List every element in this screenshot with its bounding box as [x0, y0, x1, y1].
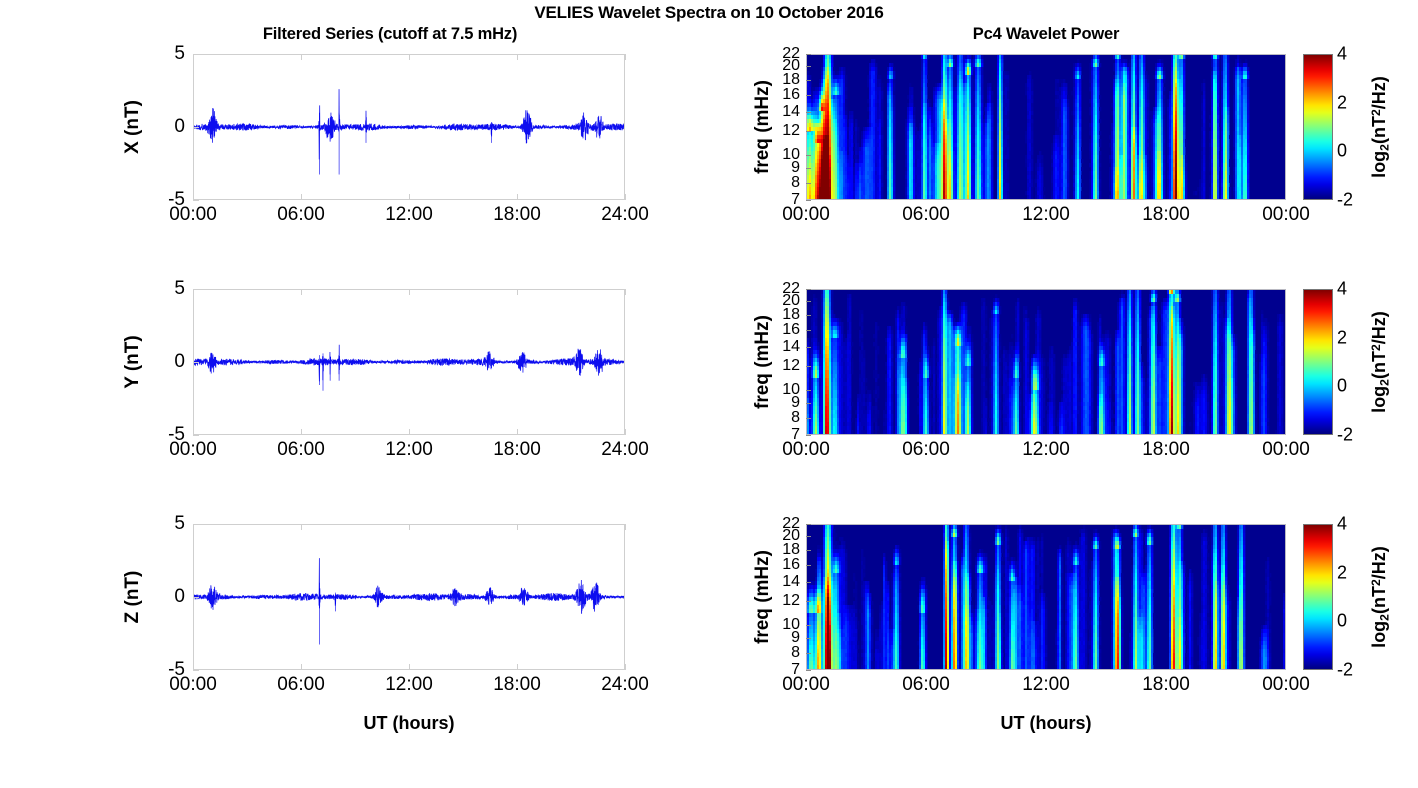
spectrogram-image-z	[807, 525, 1285, 669]
freq-tickmark	[806, 418, 811, 419]
x-tickmark	[409, 524, 410, 530]
xtick-label: 12:00	[1022, 674, 1070, 696]
colorbar-label: log2(nT2/Hz)	[1364, 512, 1388, 682]
freq-tickmark	[806, 54, 811, 55]
colorbar-tick-label: -2	[1337, 660, 1353, 681]
freq-tickmark	[806, 66, 811, 67]
colorbar-x	[1303, 54, 1333, 200]
freq-tickmark	[806, 670, 811, 671]
spectrogram-image-x	[807, 55, 1285, 199]
spectrogram-axes-z	[806, 524, 1286, 670]
xtick-label: 06:00	[902, 204, 950, 226]
freq-tickmark	[806, 550, 811, 551]
y-tickmark	[193, 200, 199, 201]
spectrogram-image-y	[807, 290, 1285, 434]
xtick-label: 24:00	[601, 204, 649, 226]
colorbar-tick-label: -2	[1337, 190, 1353, 211]
freq-tickmark	[806, 168, 811, 169]
x-tickmark	[517, 194, 518, 200]
xtick-label: 06:00	[902, 439, 950, 461]
x-tickmark	[517, 54, 518, 60]
xtick-label: 00:00	[1262, 439, 1310, 461]
ytick-label: 0	[145, 586, 185, 608]
timeseries-trace	[194, 558, 624, 614]
ytick-label: 5	[145, 513, 185, 535]
freq-tickmark	[806, 131, 811, 132]
xtick-label: 06:00	[902, 674, 950, 696]
y-tickmark	[193, 362, 199, 363]
freq-tickmark	[806, 625, 811, 626]
timeseries-axes-z	[193, 524, 625, 670]
spectrogram-ylabel: freq (mHz)	[751, 272, 775, 452]
freq-tickmark	[806, 403, 811, 404]
colorbar-tick-label: 2	[1337, 327, 1347, 348]
x-tickmark	[193, 289, 194, 295]
colorbar-tick-label: 2	[1337, 92, 1347, 113]
colorbar-tick-label: 4	[1337, 514, 1347, 535]
x-tickmark	[301, 524, 302, 530]
freq-tickmark	[806, 95, 811, 96]
x-tickmark	[193, 429, 194, 435]
timeseries-plot-y	[194, 290, 624, 434]
timeseries-ylabel: Z (nT)	[121, 512, 145, 682]
freq-tickmark	[806, 435, 811, 436]
x-tickmark	[409, 54, 410, 60]
x-tickmark	[409, 194, 410, 200]
freq-tickmark	[806, 301, 811, 302]
xtick-label: 00:00	[169, 674, 217, 696]
x-tickmark	[625, 194, 626, 200]
right-column-title: Pc4 Wavelet Power	[806, 25, 1286, 44]
spectrogram-ylabel: freq (mHz)	[751, 507, 775, 687]
xtick-label: 18:00	[1142, 204, 1190, 226]
spectrogram-xlabel: UT (hours)	[806, 713, 1286, 734]
freq-tickmark	[806, 390, 811, 391]
freq-tickmark	[806, 601, 811, 602]
x-tickmark	[409, 664, 410, 670]
y-tickmark	[193, 435, 199, 436]
x-tickmark	[517, 664, 518, 670]
spectrogram-ylabel: freq (mHz)	[751, 37, 775, 217]
xtick-label: 12:00	[1022, 204, 1070, 226]
spectrogram-cells	[807, 525, 1285, 669]
freq-tickmark	[806, 330, 811, 331]
left-column-title: Filtered Series (cutoff at 7.5 mHz)	[155, 25, 625, 44]
x-tickmark	[517, 429, 518, 435]
x-tickmark	[301, 54, 302, 60]
xtick-label: 06:00	[277, 674, 325, 696]
xtick-label: 00:00	[1262, 204, 1310, 226]
colorbar-tick-label: 4	[1337, 44, 1347, 65]
x-tickmark	[193, 54, 194, 60]
freq-tickmark	[806, 183, 811, 184]
x-tickmark	[193, 194, 194, 200]
colorbar-tick-label: 0	[1337, 611, 1347, 632]
freq-tickmark	[806, 347, 811, 348]
x-tickmark	[193, 524, 194, 530]
colorbar-z	[1303, 524, 1333, 670]
spectrogram-axes-y	[806, 289, 1286, 435]
colorbar-tick-label: 0	[1337, 376, 1347, 397]
colorbar-tick-label: -2	[1337, 425, 1353, 446]
freq-tickmark	[806, 315, 811, 316]
freq-tickmark	[806, 582, 811, 583]
xtick-label: 00:00	[782, 439, 830, 461]
timeseries-trace	[194, 345, 624, 382]
ytick-label: 0	[145, 351, 185, 373]
ytick-label: 5	[145, 278, 185, 300]
colorbar-tick-label: 0	[1337, 141, 1347, 162]
spectrogram-axes-x	[806, 54, 1286, 200]
colorbar-label: log2(nT2/Hz)	[1364, 42, 1388, 212]
colorbar-tick-label: 4	[1337, 279, 1347, 300]
xtick-label: 06:00	[277, 204, 325, 226]
xtick-label: 00:00	[169, 204, 217, 226]
figure-title: VELIES Wavelet Spectra on 10 October 201…	[0, 3, 1418, 23]
spectrogram-cells	[807, 290, 1285, 434]
xtick-label: 00:00	[169, 439, 217, 461]
x-tickmark	[625, 429, 626, 435]
freq-tickmark	[806, 80, 811, 81]
xtick-label: 18:00	[1142, 439, 1190, 461]
x-tickmark	[301, 194, 302, 200]
xtick-label: 00:00	[1262, 674, 1310, 696]
timeseries-plot-z	[194, 525, 624, 669]
x-tickmark	[409, 289, 410, 295]
xtick-label: 12:00	[1022, 439, 1070, 461]
x-tickmark	[625, 289, 626, 295]
x-tickmark	[625, 54, 626, 60]
colorbar-label: log2(nT2/Hz)	[1364, 277, 1388, 447]
figure-canvas: VELIES Wavelet Spectra on 10 October 201…	[0, 0, 1418, 788]
freq-tickmark	[806, 524, 811, 525]
freq-tickmark	[806, 565, 811, 566]
xtick-label: 18:00	[493, 674, 541, 696]
x-tickmark	[301, 289, 302, 295]
freq-tickmark	[806, 536, 811, 537]
x-tickmark	[625, 664, 626, 670]
y-tickmark	[193, 670, 199, 671]
timeseries-ylabel: X (nT)	[121, 42, 145, 212]
xtick-label: 00:00	[782, 674, 830, 696]
xtick-label: 12:00	[385, 439, 433, 461]
timeseries-trace	[194, 89, 624, 159]
ytick-label: 5	[145, 43, 185, 65]
xtick-label: 18:00	[493, 439, 541, 461]
timeseries-plot-x	[194, 55, 624, 199]
y-tickmark	[193, 127, 199, 128]
y-tickmark	[193, 597, 199, 598]
freq-tickmark	[806, 200, 811, 201]
freq-tickmark	[806, 638, 811, 639]
xtick-label: 18:00	[1142, 674, 1190, 696]
timeseries-axes-x	[193, 54, 625, 200]
x-tickmark	[301, 429, 302, 435]
freq-tickmark	[806, 155, 811, 156]
x-tickmark	[301, 664, 302, 670]
freq-tickmark	[806, 289, 811, 290]
ytick-label: 0	[145, 116, 185, 138]
freq-tickmark	[806, 653, 811, 654]
xtick-label: 12:00	[385, 674, 433, 696]
xtick-label: 24:00	[601, 439, 649, 461]
colorbar-y	[1303, 289, 1333, 435]
freq-tickmark	[806, 366, 811, 367]
timeseries-ylabel: Y (nT)	[121, 277, 145, 447]
xtick-label: 24:00	[601, 674, 649, 696]
x-tickmark	[193, 664, 194, 670]
freq-tickmark	[806, 112, 811, 113]
colorbar-tick-label: 2	[1337, 562, 1347, 583]
xtick-label: 12:00	[385, 204, 433, 226]
timeseries-xlabel: UT (hours)	[193, 713, 625, 734]
timeseries-axes-y	[193, 289, 625, 435]
xtick-label: 18:00	[493, 204, 541, 226]
spectrogram-cells	[807, 55, 1249, 199]
x-tickmark	[409, 429, 410, 435]
x-tickmark	[517, 524, 518, 530]
x-tickmark	[625, 524, 626, 530]
xtick-label: 00:00	[782, 204, 830, 226]
xtick-label: 06:00	[277, 439, 325, 461]
x-tickmark	[517, 289, 518, 295]
